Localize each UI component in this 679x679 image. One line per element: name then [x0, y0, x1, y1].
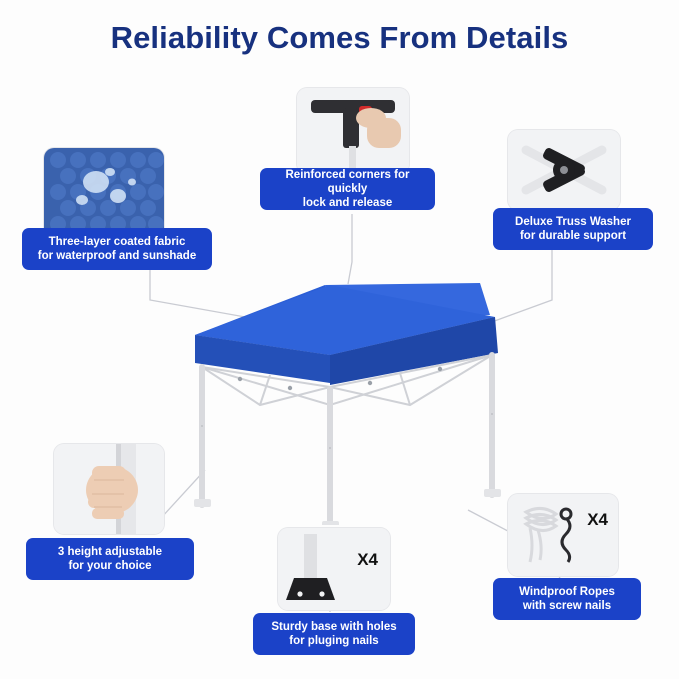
base-label-line2: for pluging nails [289, 635, 378, 647]
truss-callout-label: Deluxe Truss Washer for durable support [493, 208, 653, 250]
truss-label-line1: Deluxe Truss Washer [515, 216, 631, 228]
pop-up-canopy-tent [140, 255, 540, 525]
corners-label-line2: lock and release [303, 197, 393, 209]
fabric-label-line2: for waterproof and sunshade [38, 250, 196, 262]
corner-lock-photo [297, 88, 409, 174]
height-label-line1: 3 height adjustable [58, 546, 162, 558]
fabric-closeup-photo [44, 148, 164, 240]
ropes-quantity: X4 [587, 510, 608, 530]
base-quantity: X4 [357, 550, 378, 570]
ropes-label-line2: with screw nails [523, 600, 611, 612]
infographic-stage: Reliability Comes From Details [0, 0, 679, 679]
truss-washer-photo [508, 130, 620, 210]
fabric-label-line1: Three-layer coated fabric [49, 236, 186, 248]
ropes-callout-label: Windproof Ropes with screw nails [493, 578, 641, 620]
ropes-label-line1: Windproof Ropes [519, 586, 615, 598]
fabric-callout-label: Three-layer coated fabric for waterproof… [22, 228, 212, 270]
corners-label-line1: Reinforced corners for quickly [286, 169, 410, 195]
base-foot-photo: X4 [278, 528, 390, 610]
base-label-line1: Sturdy base with holes [271, 621, 396, 633]
corners-callout-label: Reinforced corners for quickly lock and … [260, 168, 435, 210]
height-callout-label: 3 height adjustable for your choice [26, 538, 194, 580]
height-label-line2: for your choice [68, 560, 151, 572]
base-callout-label: Sturdy base with holes for pluging nails [253, 613, 415, 655]
truss-label-line2: for durable support [520, 230, 626, 242]
windproof-ropes-photo: X4 [508, 494, 618, 576]
height-adjust-hand-photo [54, 444, 164, 534]
